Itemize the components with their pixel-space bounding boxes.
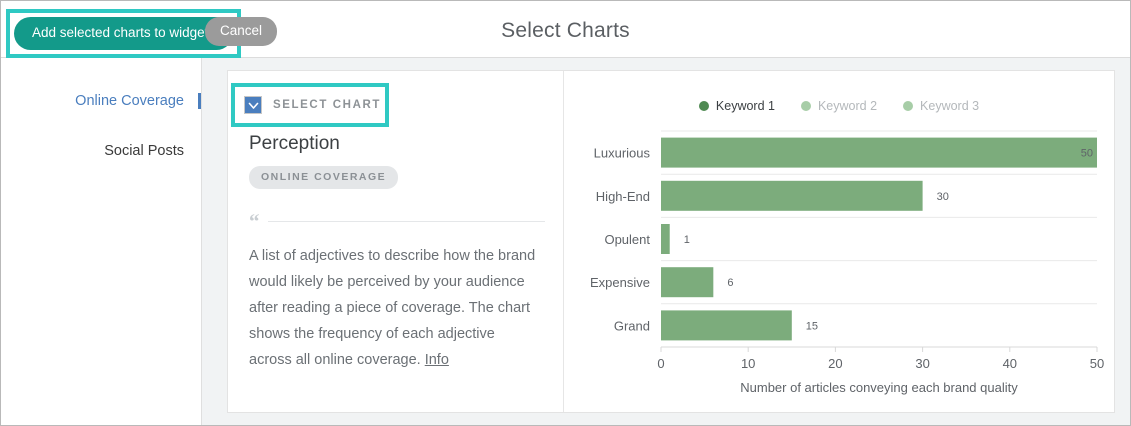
x-tick-label: 50 — [1090, 356, 1104, 371]
bar-value-label: 1 — [684, 234, 690, 246]
legend-item-2[interactable]: Keyword 2 — [801, 99, 877, 113]
x-tick-label: 0 — [657, 356, 664, 371]
checkmark-icon — [247, 99, 260, 112]
bar[interactable] — [661, 138, 1097, 168]
sidebar-item-label: Social Posts — [104, 143, 184, 159]
sidebar: Online Coverage Social Posts — [1, 58, 202, 425]
chart-category-badge: ONLINE COVERAGE — [249, 166, 398, 189]
quote-divider: “ — [249, 211, 545, 232]
category-label: High-End — [596, 189, 650, 204]
chart-info-panel: SELECT CHART Perception ONLINE COVERAGE … — [228, 71, 564, 412]
category-label: Expensive — [590, 275, 650, 290]
legend-item-label: Keyword 2 — [818, 99, 877, 113]
chart-panel: Keyword 1Keyword 2Keyword 3 50Luxurious3… — [564, 71, 1114, 412]
chart-description: A list of adjectives to describe how the… — [249, 243, 541, 373]
select-chart-checkbox[interactable] — [244, 96, 262, 114]
divider-rule — [268, 221, 546, 222]
bar[interactable] — [661, 267, 713, 297]
x-tick-label: 40 — [1003, 356, 1017, 371]
legend-item-label: Keyword 3 — [920, 99, 979, 113]
select-chart-label: SELECT CHART — [273, 99, 381, 111]
legend-dot-icon — [903, 101, 913, 111]
chart-description-text: A list of adjectives to describe how the… — [249, 248, 535, 368]
bar-value-label: 30 — [937, 191, 949, 203]
info-link[interactable]: Info — [425, 352, 449, 368]
x-axis-title: Number of articles conveying each brand … — [740, 380, 1018, 395]
select-chart-row[interactable]: SELECT CHART — [231, 83, 389, 127]
chart-legend: Keyword 1Keyword 2Keyword 3 — [564, 99, 1114, 113]
category-label: Grand — [614, 318, 650, 333]
quote-icon: “ — [249, 211, 260, 232]
bar-value-label: 15 — [806, 320, 818, 332]
x-tick-label: 20 — [828, 356, 842, 371]
bar[interactable] — [661, 224, 670, 254]
sidebar-item-label: Online Coverage — [75, 93, 184, 109]
sidebar-item-online-coverage[interactable]: Online Coverage — [1, 93, 201, 109]
legend-item-label: Keyword 1 — [716, 99, 775, 113]
select-charts-dialog: Add selected charts to widgets Cancel Se… — [0, 0, 1131, 426]
x-tick-label: 10 — [741, 356, 755, 371]
bar-value-label: 50 — [1081, 148, 1093, 160]
chart-card: SELECT CHART Perception ONLINE COVERAGE … — [227, 70, 1115, 413]
x-tick-label: 30 — [915, 356, 929, 371]
legend-item-3[interactable]: Keyword 3 — [903, 99, 979, 113]
sidebar-item-social-posts[interactable]: Social Posts — [1, 143, 201, 159]
bar-chart: 50Luxurious30High-End1Opulent6Expensive1… — [564, 123, 1114, 403]
page-title: Select Charts — [1, 19, 1130, 43]
chart-title: Perception — [249, 133, 340, 155]
bar[interactable] — [661, 310, 792, 340]
legend-dot-icon — [801, 101, 811, 111]
bar-value-label: 6 — [727, 277, 733, 289]
dialog-body: Online Coverage Social Posts SELECT CHAR… — [1, 58, 1130, 425]
toolbar: Add selected charts to widgets Cancel Se… — [1, 1, 1130, 58]
legend-item-1[interactable]: Keyword 1 — [699, 99, 775, 113]
bar[interactable] — [661, 181, 923, 211]
category-label: Opulent — [604, 232, 650, 247]
category-label: Luxurious — [594, 146, 651, 161]
legend-dot-icon — [699, 101, 709, 111]
